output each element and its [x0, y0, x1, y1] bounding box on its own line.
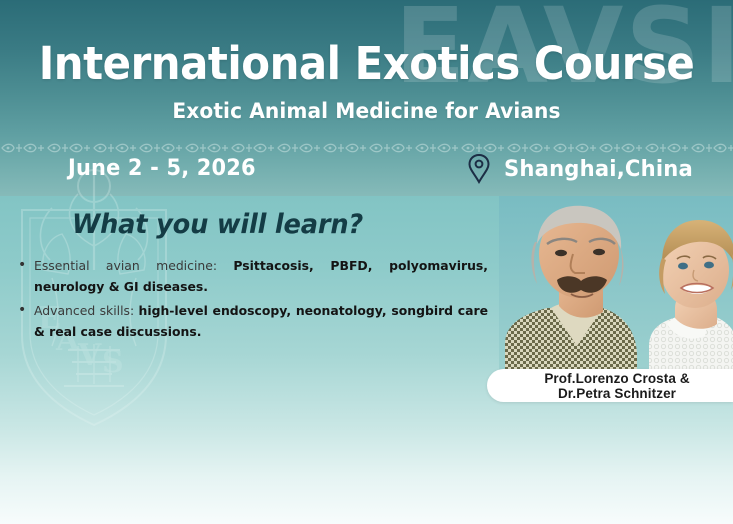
speaker-name-line-2: Dr.Petra Schnitzer	[544, 386, 689, 401]
speaker-nameplate: Prof.Lorenzo Crosta & Dr.Petra Schnitzer	[487, 369, 733, 402]
speakers-photo-svg	[499, 196, 733, 382]
speakers-photo	[499, 196, 733, 382]
map-pin-svg	[466, 153, 492, 185]
speaker-names: Prof.Lorenzo Crosta & Dr.Petra Schnitzer	[530, 371, 689, 401]
poster-root: EAVSI	[0, 0, 733, 524]
list-item: • Essential avian medicine: Psittacosis,…	[18, 255, 488, 297]
page-title: International Exotics Course	[26, 40, 708, 87]
list-item: • Advanced skills: high-level endoscopy,…	[18, 300, 488, 342]
event-location-group: Shanghai,China	[466, 153, 701, 185]
bullet-marker: •	[18, 255, 34, 297]
event-city: Shanghai,China	[504, 157, 693, 182]
bullet-lead: Advanced skills:	[34, 303, 139, 318]
page-subtitle: Exotic Animal Medicine for Avians	[15, 99, 719, 123]
bullet-text: Essential avian medicine: Psittacosis, P…	[34, 255, 488, 297]
bullet-text: Advanced skills: high-level endoscopy, n…	[34, 300, 488, 342]
learn-bullet-list: • Essential avian medicine: Psittacosis,…	[18, 255, 488, 345]
speaker-name-line-1: Prof.Lorenzo Crosta &	[544, 371, 689, 386]
bullet-marker: •	[18, 300, 34, 342]
learn-heading: What you will learn?	[72, 209, 363, 240]
bullet-lead: Essential avian medicine:	[34, 258, 233, 273]
event-date: June 2 - 5, 2026	[68, 156, 256, 181]
map-pin-icon	[466, 153, 492, 185]
